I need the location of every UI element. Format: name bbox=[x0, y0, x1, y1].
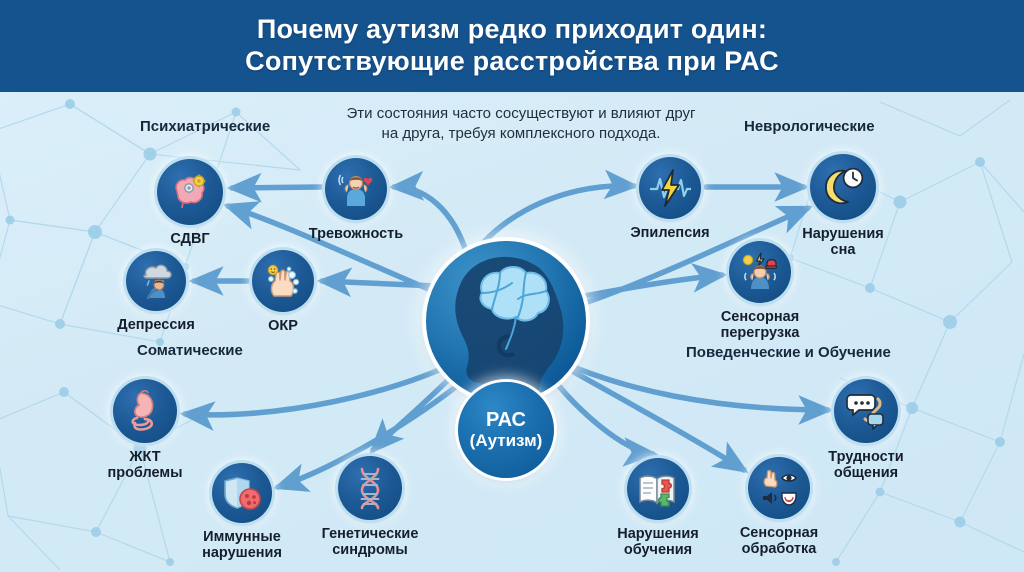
anxious-person-icon bbox=[335, 168, 377, 210]
dna-icon bbox=[350, 466, 390, 510]
rain-cloud-sad-icon bbox=[135, 260, 177, 302]
group-label-behavioral: Поведенческие и Обучение bbox=[686, 344, 891, 361]
speech-broken-link-icon bbox=[844, 389, 888, 433]
node-depression-label: Депрессия bbox=[117, 317, 195, 333]
node-immune-label: Иммунные нарушения bbox=[202, 529, 282, 561]
node-sleep-label: Нарушения сна bbox=[802, 226, 884, 258]
shield-cells-icon bbox=[221, 472, 263, 514]
group-label-somatic: Соматические bbox=[137, 342, 243, 359]
page-title: Почему аутизм редко приходит один: Сопут… bbox=[245, 14, 779, 77]
overload-person-icon bbox=[738, 251, 782, 293]
lightning-ecg-icon bbox=[648, 167, 692, 209]
moon-clock-icon bbox=[820, 165, 866, 209]
node-sensory-overload-label: Сенсорная перегрузка bbox=[721, 309, 800, 341]
node-gi-bubble[interactable] bbox=[113, 379, 177, 443]
washing-hands-icon bbox=[262, 260, 304, 302]
node-communication-label: Трудности общения bbox=[828, 449, 903, 481]
node-adhd-label: СДВГ bbox=[170, 231, 209, 247]
stomach-gut-icon bbox=[123, 389, 167, 433]
node-communication-bubble[interactable] bbox=[834, 379, 898, 443]
node-sensory-overload-bubble[interactable] bbox=[729, 241, 791, 303]
group-label-neurological: Неврологические bbox=[744, 118, 875, 135]
node-epilepsy-label: Эпилепсия bbox=[630, 225, 709, 241]
node-anxiety-bubble[interactable] bbox=[325, 158, 387, 220]
node-anxiety-label: Тревожность bbox=[309, 226, 403, 242]
group-label-psychiatric: Психиатрические bbox=[140, 118, 270, 135]
senses-icon bbox=[757, 466, 801, 510]
node-adhd-bubble[interactable] bbox=[157, 159, 223, 225]
node-gi-label: ЖКТ проблемы bbox=[107, 449, 182, 481]
node-genetic-label: Генетические синдромы bbox=[322, 526, 419, 558]
header-banner: Почему аутизм редко приходит один: Сопут… bbox=[0, 0, 1024, 92]
node-sensory-processing-label: Сенсорная обработка bbox=[740, 525, 818, 557]
node-depression-bubble[interactable] bbox=[126, 251, 186, 311]
brain-gears-icon bbox=[169, 171, 211, 213]
node-learning-bubble[interactable] bbox=[627, 458, 689, 520]
book-puzzle-icon bbox=[636, 468, 680, 510]
subtitle-text: Эти состояния часто сосуществуют и влияю… bbox=[296, 104, 746, 144]
node-immune-bubble[interactable] bbox=[212, 463, 272, 523]
hub-badge-line2: (Аутизм) bbox=[470, 431, 543, 451]
hub-badge-line1: РАС bbox=[486, 410, 526, 431]
node-sleep-bubble[interactable] bbox=[810, 154, 876, 220]
infographic-canvas: Почему аутизм редко приходит один: Сопут… bbox=[0, 0, 1024, 572]
node-ocd-bubble[interactable] bbox=[252, 250, 314, 312]
hub-disc bbox=[426, 241, 586, 401]
node-ocd-label: ОКР bbox=[268, 318, 298, 334]
node-epilepsy-bubble[interactable] bbox=[639, 157, 701, 219]
node-learning-label: Нарушения обучения bbox=[617, 526, 699, 558]
node-genetic-bubble[interactable] bbox=[338, 456, 402, 520]
central-hub-asd[interactable] bbox=[426, 241, 586, 401]
node-sensory-processing-bubble[interactable] bbox=[748, 457, 810, 519]
brain-head-icon bbox=[426, 241, 586, 401]
hub-label-badge: РАС (Аутизм) bbox=[458, 382, 554, 478]
